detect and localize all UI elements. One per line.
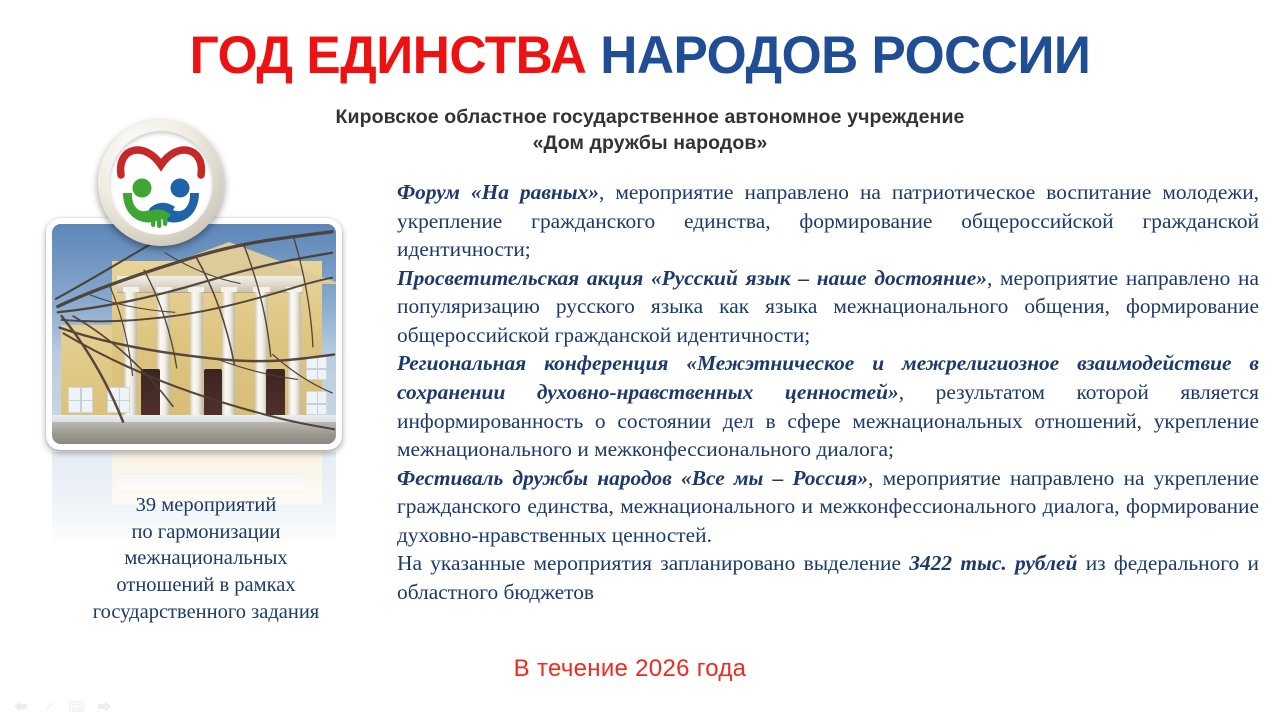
emblem-artwork <box>109 131 213 235</box>
page-title: ГОД ЕДИНСТВА НАРОДОВ РОССИИ <box>19 28 1261 84</box>
budget-amount: 3422 тыс. рублей <box>909 551 1077 575</box>
building-photo <box>46 218 342 450</box>
friendship-house-emblem <box>98 120 224 246</box>
events-caption-line: отношений в рамках <box>36 572 376 599</box>
event-paragraph: Региональная конференция «Межэтническое … <box>397 349 1259 463</box>
event-paragraph: Просветительская акция «Русский язык – н… <box>397 264 1259 350</box>
events-caption-line: по гармонизации <box>36 519 376 546</box>
previous-slide-arrow-icon[interactable] <box>12 699 29 714</box>
photo-frame <box>46 218 342 450</box>
event-paragraph: Фестиваль дружбы народов «Все мы – Росси… <box>397 464 1259 550</box>
budget-prefix: На указанные мероприятия запланировано в… <box>397 551 909 575</box>
budget-paragraph: На указанные мероприятия запланировано в… <box>397 549 1259 606</box>
event-title: Просветительская акция «Русский язык – н… <box>397 266 987 290</box>
event-title: Фестиваль дружбы народов «Все мы – Росси… <box>397 466 868 490</box>
timeframe-note: В течение 2026 года <box>180 655 1080 683</box>
presenter-controls[interactable] <box>12 699 113 714</box>
left-column: 39 мероприятий по гармонизации межнацион… <box>36 120 376 640</box>
page-title-blue-segment: НАРОДОВ РОССИИ <box>600 26 1090 85</box>
event-title: Форум «На равных» <box>397 180 599 204</box>
tree-branches-overlay <box>52 224 336 444</box>
slide-grid-icon[interactable] <box>68 699 85 714</box>
events-caption: 39 мероприятий по гармонизации межнацион… <box>36 492 376 625</box>
events-caption-line: 39 мероприятий <box>36 492 376 519</box>
next-slide-arrow-icon[interactable] <box>96 699 113 714</box>
event-paragraph: Форум «На равных», мероприятие направлен… <box>397 178 1259 264</box>
body-text: Форум «На равных», мероприятие направлен… <box>397 178 1259 606</box>
page-title-red-segment: ГОД ЕДИНСТВА <box>190 26 587 85</box>
events-caption-line: государственного задания <box>36 599 376 626</box>
events-caption-line: межнациональных <box>36 545 376 572</box>
pen-annotation-icon[interactable] <box>40 699 57 714</box>
